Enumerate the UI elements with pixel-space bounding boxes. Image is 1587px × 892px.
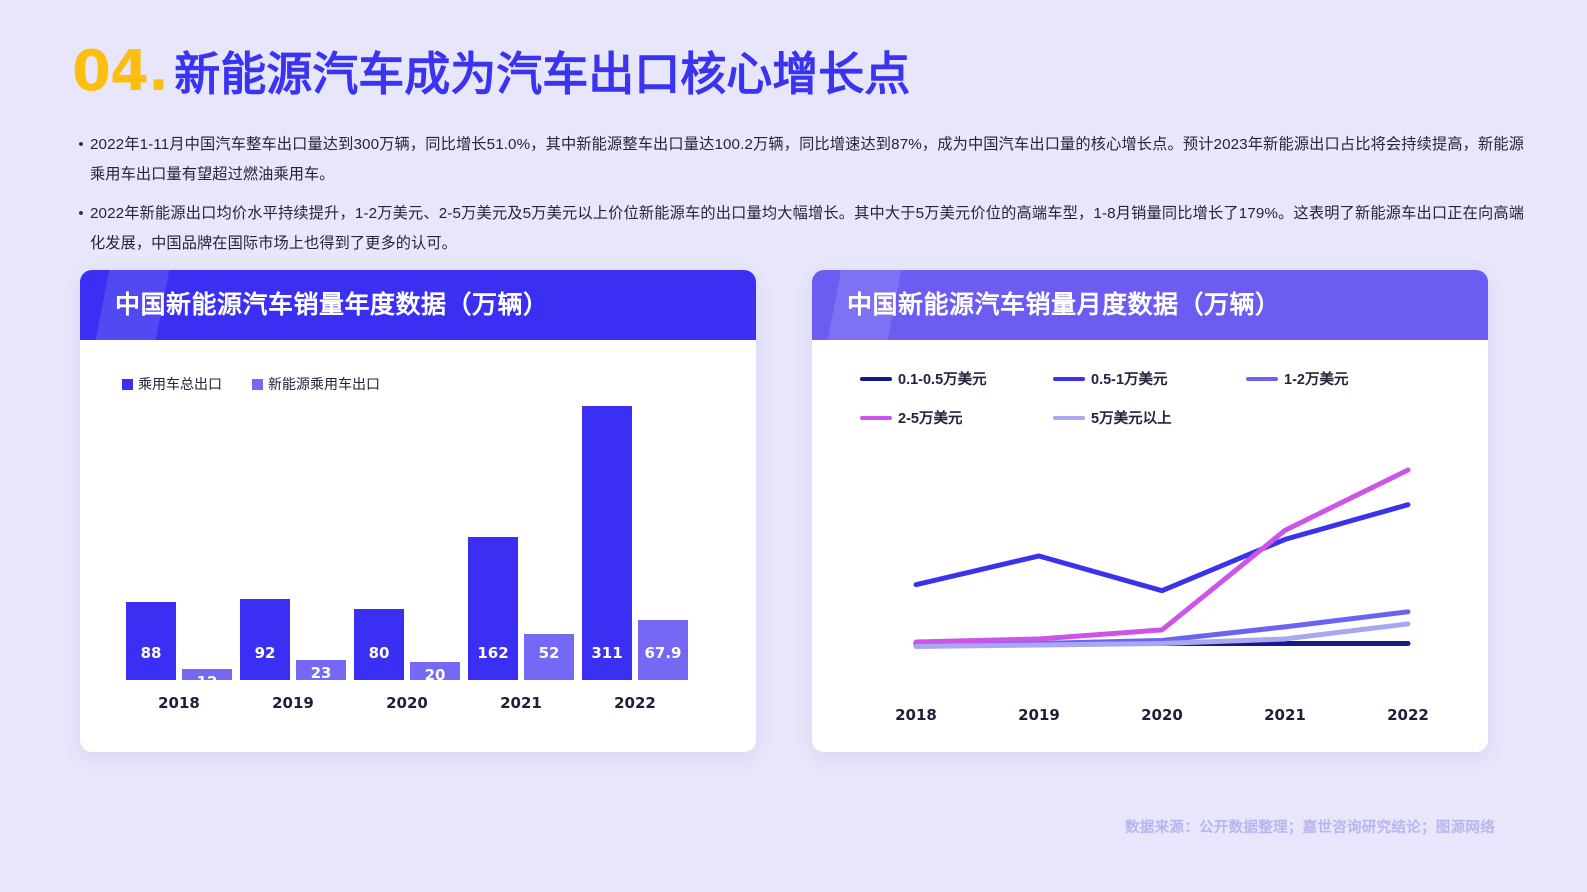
bar-value-label: 20 (410, 666, 460, 684)
line-series-1 (916, 505, 1408, 591)
bar-2020-total: 80 (354, 609, 404, 680)
bar-chart-plot: 88122018922320198020202016252202131167.9… (80, 340, 756, 752)
x-axis-label-2018: 2018 (876, 706, 956, 724)
bar-value-label: 12 (182, 673, 232, 691)
page-title: 04. 新能源汽车成为汽车出口核心增长点 (72, 44, 910, 100)
line-chart-card: 中国新能源汽车销量月度数据（万辆） 0.1-0.5万美元0.5-1万美元1-2万… (812, 270, 1488, 752)
bullet-text: 2022年新能源出口均价水平持续提升，1-2万美元、2-5万美元及5万美元以上价… (90, 199, 1524, 259)
line-chart-svg (812, 340, 1488, 752)
bar-value-label: 162 (468, 644, 518, 662)
bar-2018-nev: 12 (182, 669, 232, 680)
section-number: 04. (72, 44, 168, 100)
bullet-marker-icon: • (72, 199, 90, 229)
section-title: 新能源汽车成为汽车出口核心增长点 (174, 51, 910, 97)
list-item: • 2022年1-11月中国汽车整车出口量达到300万辆，同比增长51.0%，其… (72, 130, 1524, 190)
bar-2022-total: 311 (582, 406, 632, 680)
bar-2021-nev: 52 (524, 634, 574, 680)
x-axis-label-2022: 2022 (1368, 706, 1448, 724)
bullet-text: 2022年1-11月中国汽车整车出口量达到300万辆，同比增长51.0%，其中新… (90, 130, 1524, 190)
bar-chart-body: 乘用车总出口 新能源乘用车出口 881220189223201980202020… (80, 340, 756, 752)
bar-value-label: 67.9 (638, 644, 688, 662)
bar-value-label: 80 (354, 644, 404, 662)
bar-value-label: 52 (524, 644, 574, 662)
bar-chart-card-header: 中国新能源汽车销量年度数据（万辆） (80, 270, 756, 340)
bar-2022-nev: 67.9 (638, 620, 688, 680)
line-chart-title: 中国新能源汽车销量月度数据（万辆） (812, 270, 1488, 340)
x-axis-label-2020: 2020 (1122, 706, 1202, 724)
bar-2019-nev: 23 (296, 660, 346, 680)
bar-2018-total: 88 (126, 602, 176, 680)
bullet-list: • 2022年1-11月中国汽车整车出口量达到300万辆，同比增长51.0%，其… (72, 130, 1524, 268)
x-axis-label-2019: 2019 (999, 706, 1079, 724)
data-source-note: 数据来源：公开数据整理；嘉世咨询研究结论；图源网络 (1125, 816, 1495, 837)
bar-value-label: 92 (240, 644, 290, 662)
bar-2020-nev: 20 (410, 662, 460, 680)
x-axis-label-2021: 2021 (1245, 706, 1325, 724)
bar-value-label: 88 (126, 644, 176, 662)
bar-value-label: 23 (296, 664, 346, 682)
x-axis-label-2022: 2022 (566, 694, 704, 712)
bar-value-label: 311 (582, 644, 632, 662)
list-item: • 2022年新能源出口均价水平持续提升，1-2万美元、2-5万美元及5万美元以… (72, 199, 1524, 259)
line-chart-plot: 20182019202020212022 (812, 340, 1488, 752)
bar-2021-total: 162 (468, 537, 518, 680)
line-chart-body: 0.1-0.5万美元0.5-1万美元1-2万美元2-5万美元5万美元以上 201… (812, 340, 1488, 752)
bar-chart-card: 中国新能源汽车销量年度数据（万辆） 乘用车总出口 新能源乘用车出口 881220… (80, 270, 756, 752)
bar-2019-total: 92 (240, 599, 290, 680)
bullet-marker-icon: • (72, 130, 90, 160)
line-chart-card-header: 中国新能源汽车销量月度数据（万辆） (812, 270, 1488, 340)
line-series-3 (916, 470, 1408, 642)
bar-chart-title: 中国新能源汽车销量年度数据（万辆） (80, 270, 756, 340)
